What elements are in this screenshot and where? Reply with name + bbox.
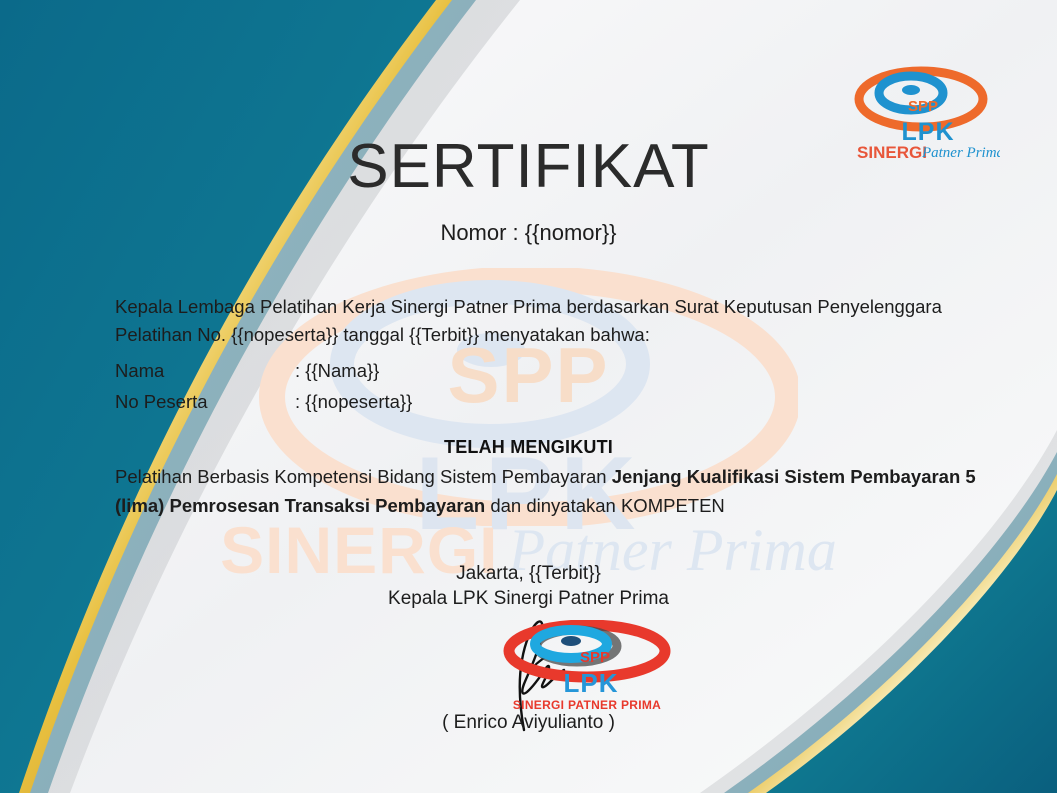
field-no-peserta-label: No Peserta xyxy=(115,391,295,413)
field-nama-value: {{Nama}} xyxy=(305,360,379,381)
stamp-logo: SPP LPK SINERGI PATNER PRIMA xyxy=(495,620,680,715)
signer-name: ( Enrico Aviyulianto ) xyxy=(0,712,1057,734)
field-no-peserta-separator: : xyxy=(295,391,300,412)
field-no-peserta-value: {{nopeserta}} xyxy=(305,391,412,412)
competency-paragraph: Pelatihan Berbasis Kompetensi Bidang Sis… xyxy=(115,462,987,520)
place-and-date: Jakarta, {{Terbit}} xyxy=(0,563,1057,585)
attendance-heading: TELAH MENGIKUTI xyxy=(0,437,1057,458)
field-no-peserta: No Peserta: {{nopeserta}} xyxy=(115,391,412,413)
certificate-content: SPP LPK SINERGI Patner Prima SERTIFIKAT … xyxy=(0,0,1057,793)
stamp-tagline: SINERGI PATNER PRIMA xyxy=(513,698,661,712)
logo-spp-text: SPP xyxy=(908,98,938,115)
field-nama-separator: : xyxy=(295,360,300,381)
field-nama: Nama: {{Nama}} xyxy=(115,360,379,382)
certificate-number: Nomor : {{nomor}} xyxy=(0,220,1057,246)
field-nama-label: Nama xyxy=(115,360,295,382)
stamp-spp-text: SPP xyxy=(580,649,610,666)
certificate-title: SERTIFIKAT xyxy=(0,131,1057,202)
stamp-lpk-text: LPK xyxy=(564,668,619,698)
signer-role: Kepala LPK Sinergi Patner Prima xyxy=(0,588,1057,610)
competency-text-part2: dan dinyatakan KOMPETEN xyxy=(485,495,725,516)
certificate-page: SPP LPK SINERGIPatner Prima SPP LPK SINE… xyxy=(0,0,1057,793)
intro-paragraph: Kepala Lembaga Pelatihan Kerja Sinergi P… xyxy=(115,293,985,349)
competency-text-part1: Pelatihan Berbasis Kompetensi Bidang Sis… xyxy=(115,466,612,487)
